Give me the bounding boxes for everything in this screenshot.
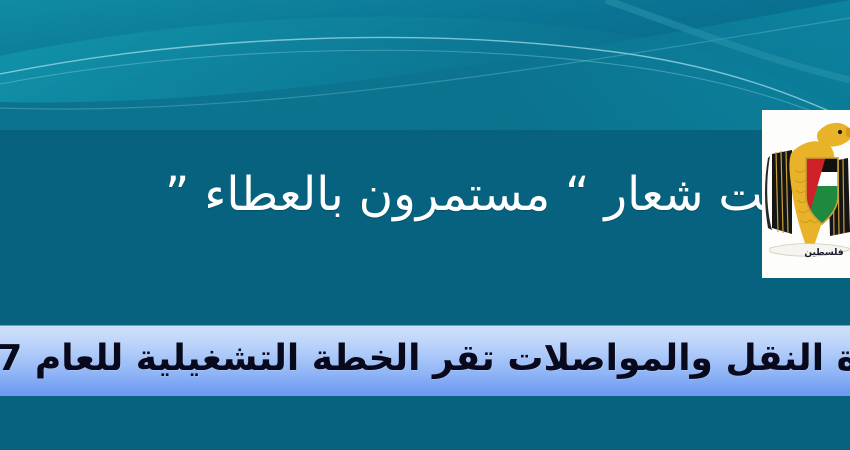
coat-of-arms-emblem: فلسطين bbox=[762, 110, 850, 278]
title-banner-text: وزارة النقل والمواصلات تقر الخطة التشغيل… bbox=[0, 341, 850, 377]
wave-decoration bbox=[0, 0, 850, 130]
title-banner: وزارة النقل والمواصلات تقر الخطة التشغيل… bbox=[0, 322, 850, 396]
slogan-row: تحت شعار “ مستمرون بالعطاء ” bbox=[0, 120, 850, 270]
slogan-text: تحت شعار “ مستمرون بالعطاء ” bbox=[165, 166, 850, 225]
emblem-scroll-text: فلسطين bbox=[804, 248, 843, 258]
bottom-field bbox=[0, 396, 850, 450]
presentation-slide: تحت شعار “ مستمرون بالعطاء ” bbox=[0, 0, 850, 450]
